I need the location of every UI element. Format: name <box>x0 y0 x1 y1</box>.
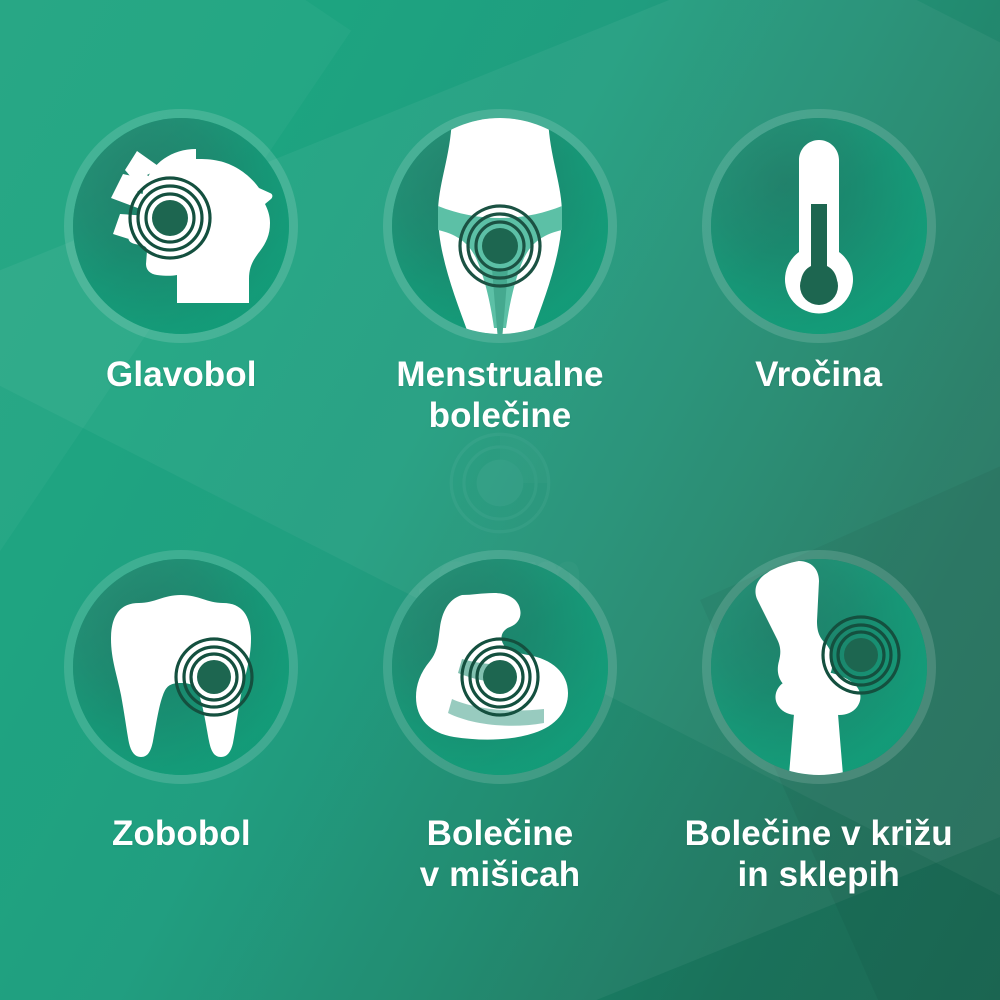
symptom-card-bolecine-v-misicah[interactable]: Bolečine v mišicah <box>341 533 660 948</box>
thermometer-icon <box>711 118 927 334</box>
icon-badge <box>73 118 289 334</box>
symptom-grid: Glavobol Menstrualne bolečine <box>0 0 1000 1000</box>
icon-badge <box>392 559 608 775</box>
menstrual-pain-icon <box>392 118 608 334</box>
symptom-card-vrocina[interactable]: Vročina <box>659 118 978 533</box>
icon-badge <box>711 559 927 775</box>
icon-badge <box>711 118 927 334</box>
flexed-biceps-icon <box>392 559 608 775</box>
icon-badge <box>73 559 289 775</box>
pain-marker-icon <box>823 617 899 693</box>
symptom-label: Zobobol <box>112 813 251 854</box>
knee-joint-bone-icon <box>711 559 927 775</box>
symptom-label: Bolečine v križu in sklepih <box>685 813 953 896</box>
symptom-label: Glavobol <box>106 354 257 395</box>
tooth-icon <box>73 559 289 775</box>
infographic-canvas: .com <box>0 0 1000 1000</box>
symptom-label: Menstrualne bolečine <box>341 354 660 437</box>
symptom-label: Bolečine v mišicah <box>420 813 580 896</box>
symptom-card-zobobol[interactable]: Zobobol <box>22 533 341 948</box>
symptom-label: Vročina <box>755 354 882 395</box>
symptom-card-menstrualne-bolecine[interactable]: Menstrualne bolečine <box>341 118 660 533</box>
head-pain-icon <box>73 118 289 334</box>
symptom-card-glavobol[interactable]: Glavobol <box>22 118 341 533</box>
symptom-card-bolecine-v-krizu-in-sklepih[interactable]: Bolečine v križu in sklepih <box>659 533 978 948</box>
icon-badge <box>392 118 608 334</box>
